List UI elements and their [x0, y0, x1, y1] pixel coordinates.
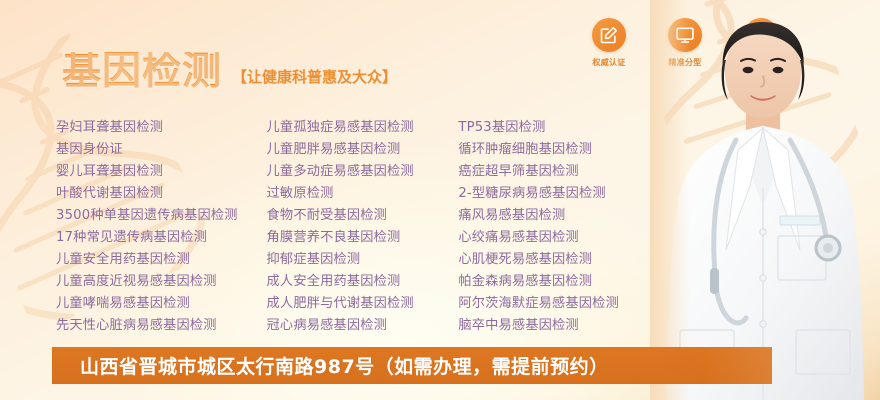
report-document-icon [744, 18, 778, 52]
edit-certificate-icon [592, 18, 626, 52]
test-list: 孕妇耳聋基因检测 基因身份证 婴儿耳聋基因检测 叶酸代谢基因检测 3500种单基… [56, 117, 656, 337]
monitor-icon [668, 18, 702, 52]
list-item[interactable]: 先天性心脏病易感基因检测 [56, 315, 267, 337]
list-item[interactable]: 孕妇耳聋基因检测 [56, 117, 267, 139]
list-item[interactable]: 基因身份证 [56, 139, 267, 161]
list-item[interactable]: 婴儿耳聋基因检测 [56, 161, 267, 183]
list-item[interactable]: 食物不耐受基因检测 [267, 205, 459, 227]
list-item[interactable]: 儿童哮喘易感基因检测 [56, 293, 267, 315]
feature-item-authority[interactable]: 权威认证 [582, 18, 636, 68]
list-item[interactable]: 痛风易感基因检测 [458, 205, 656, 227]
test-list-column-3: TP53基因检测 循环肿瘤细胞基因检测 癌症超早筛基因检测 2-型糖尿病易感基因… [458, 117, 656, 337]
gene-testing-banner: 基因检测 【让健康科普惠及大众】 权威认证 精准分型 [0, 0, 880, 400]
list-item[interactable]: 心绞痛易感基因检测 [458, 227, 656, 249]
list-item[interactable]: 叶酸代谢基因检测 [56, 183, 267, 205]
test-list-column-2: 儿童孤独症易感基因检测 儿童肥胖易感基因检测 儿童多动症易感基因检测 过敏原检测… [267, 117, 459, 337]
page-title: 基因检测 [62, 52, 222, 91]
list-item[interactable]: 成人安全用药基因检测 [267, 271, 459, 293]
test-list-column-1: 孕妇耳聋基因检测 基因身份证 婴儿耳聋基因检测 叶酸代谢基因检测 3500种单基… [56, 117, 267, 337]
page-subtitle: 【让健康科普惠及大众】 [232, 66, 397, 91]
feature-label: 权威认证 [592, 57, 625, 68]
list-item[interactable]: 心肌梗死易感基因检测 [458, 249, 656, 271]
address-bar: 山西省晋城市城区太行南路987号（如需办理，需提前预约） [52, 347, 772, 384]
list-item[interactable]: 角膜营养不良基因检测 [267, 227, 459, 249]
list-item[interactable]: 阿尔茨海默症易感基因检测 [458, 293, 656, 315]
feature-badges: 权威认证 精准分型 轻松自检 [582, 18, 788, 68]
list-item[interactable]: 成人肥胖与代谢基因检测 [267, 293, 459, 315]
feature-item-selfcheck[interactable]: 轻松自检 [734, 18, 788, 68]
list-item[interactable]: 抑郁症基因检测 [267, 249, 459, 271]
list-item[interactable]: 儿童多动症易感基因检测 [267, 161, 459, 183]
address-bar-fade [652, 347, 772, 384]
list-item[interactable]: 儿童安全用药基因检测 [56, 249, 267, 271]
list-item[interactable]: 过敏原检测 [267, 183, 459, 205]
list-item[interactable]: 冠心病易感基因检测 [267, 315, 459, 337]
list-item[interactable]: 儿童孤独症易感基因检测 [267, 117, 459, 139]
list-item[interactable]: TP53基因检测 [458, 117, 656, 139]
list-item[interactable]: 脑卒中易感基因检测 [458, 315, 656, 337]
list-item[interactable]: 循环肿瘤细胞基因检测 [458, 139, 656, 161]
feature-label: 精准分型 [668, 57, 701, 68]
list-item[interactable]: 儿童肥胖易感基因检测 [267, 139, 459, 161]
feature-item-typing[interactable]: 精准分型 [658, 18, 712, 68]
list-item[interactable]: 癌症超早筛基因检测 [458, 161, 656, 183]
feature-label: 轻松自检 [744, 57, 777, 68]
title-block: 基因检测 【让健康科普惠及大众】 [62, 52, 397, 91]
list-item[interactable]: 17种常见遗传病基因检测 [56, 227, 267, 249]
list-item[interactable]: 帕金森病易感基因检测 [458, 271, 656, 293]
list-item[interactable]: 2-型糖尿病易感基因检测 [458, 183, 656, 205]
list-item[interactable]: 儿童高度近视易感基因检测 [56, 271, 267, 293]
list-item[interactable]: 3500种单基因遗传病基因检测 [56, 205, 267, 227]
address-text: 山西省晋城市城区太行南路987号（如需办理，需提前预约） [80, 352, 609, 379]
